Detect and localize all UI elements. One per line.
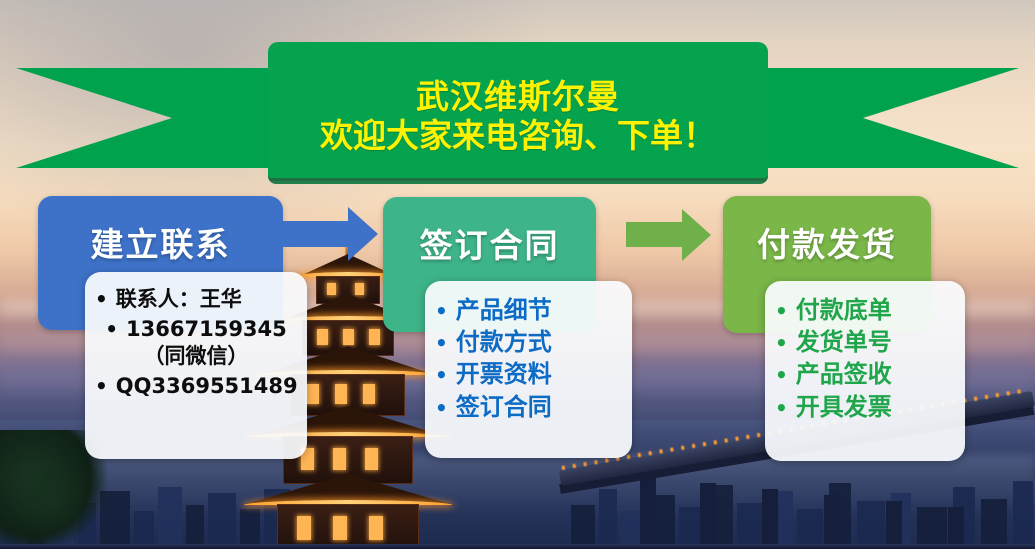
step-3-list: • 付款底单 • 发货单号 • 产品签收 • 开具发票 [775,295,955,422]
step-1-item-1: 13667159345 [126,316,287,342]
step-1-item-1-sub: （同微信） [144,343,249,369]
foreground-tree [14,452,84,542]
step-1-card: • 联系人：王华 • 13667159345 （同微信） • QQ3369551… [85,272,307,459]
headline-ribbon-banner: 武汉维斯尔曼 欢迎大家来电咨询、下单！ [0,68,1035,168]
arrow-shaft [282,221,350,247]
bullet-icon: • [775,398,788,418]
bullet-icon: • [775,365,788,385]
step-1-title: 建立联系 [91,218,231,266]
step-1-list: • 联系人：王华 • 13667159345 （同微信） • QQ3369551… [95,286,297,400]
step-3-item-2: 产品签收 [796,359,892,389]
bullet-icon: • [435,365,448,385]
bullet-icon: • [95,289,108,309]
step-3-item-0: 付款底单 [796,295,892,325]
step-3-item-3: 开具发票 [796,392,892,422]
step-3-card: • 付款底单 • 发货单号 • 产品签收 • 开具发票 [765,281,965,461]
step-3-item-1: 发货单号 [796,327,892,357]
step-1-item-2: QQ3369551489 [116,373,298,399]
bullet-icon: • [775,301,788,321]
bullet-icon: • [435,301,448,321]
list-item: • 签订合同 [435,392,622,422]
banner-call-to-action: 欢迎大家来电咨询、下单！ [320,117,716,156]
list-item: • 13667159345 （同微信） [95,316,297,369]
step-1-item-0: 联系人：王华 [116,286,242,312]
bullet-icon: • [435,333,448,353]
list-item: • 付款底单 [775,295,955,325]
arrow-step1-to-step2 [282,207,378,261]
poster-canvas: 武汉维斯尔曼 欢迎大家来电咨询、下单！ 建立联系 • 联系人：王华 • 1366… [0,0,1035,549]
list-item: • 开具发票 [775,392,955,422]
bullet-icon: • [775,333,788,353]
step-2-card: • 产品细节 • 付款方式 • 开票资料 • 签订合同 [425,281,632,458]
bullet-icon: • [105,319,118,339]
list-item: • 发货单号 [775,327,955,357]
list-item: • 产品细节 [435,295,622,325]
banner-headline: 武汉维斯尔曼 欢迎大家来电咨询、下单！ [268,52,768,182]
list-item: • 付款方式 [435,327,622,357]
step-2-item-3: 签订合同 [456,392,552,422]
step-2-title: 签订合同 [420,219,560,267]
arrow-head-icon [348,207,378,261]
bullet-icon: • [95,376,108,396]
step-3-title: 付款发货 [757,218,897,266]
bottom-edge-strip [0,544,1035,549]
step-2-list: • 产品细节 • 付款方式 • 开票资料 • 签订合同 [435,295,622,422]
arrow-head-icon [682,209,711,261]
list-item: • 联系人：王华 [95,286,297,312]
arrow-shaft [626,222,684,247]
step-2-item-0: 产品细节 [456,295,552,325]
bullet-icon: • [435,398,448,418]
list-item: • QQ3369551489 [95,373,297,399]
step-2-item-2: 开票资料 [456,359,552,389]
arrow-step2-to-step3 [626,209,712,261]
step-2-item-1: 付款方式 [456,327,552,357]
banner-company-name: 武汉维斯尔曼 [416,78,620,117]
list-item: • 产品签收 [775,359,955,389]
list-item: • 开票资料 [435,359,622,389]
